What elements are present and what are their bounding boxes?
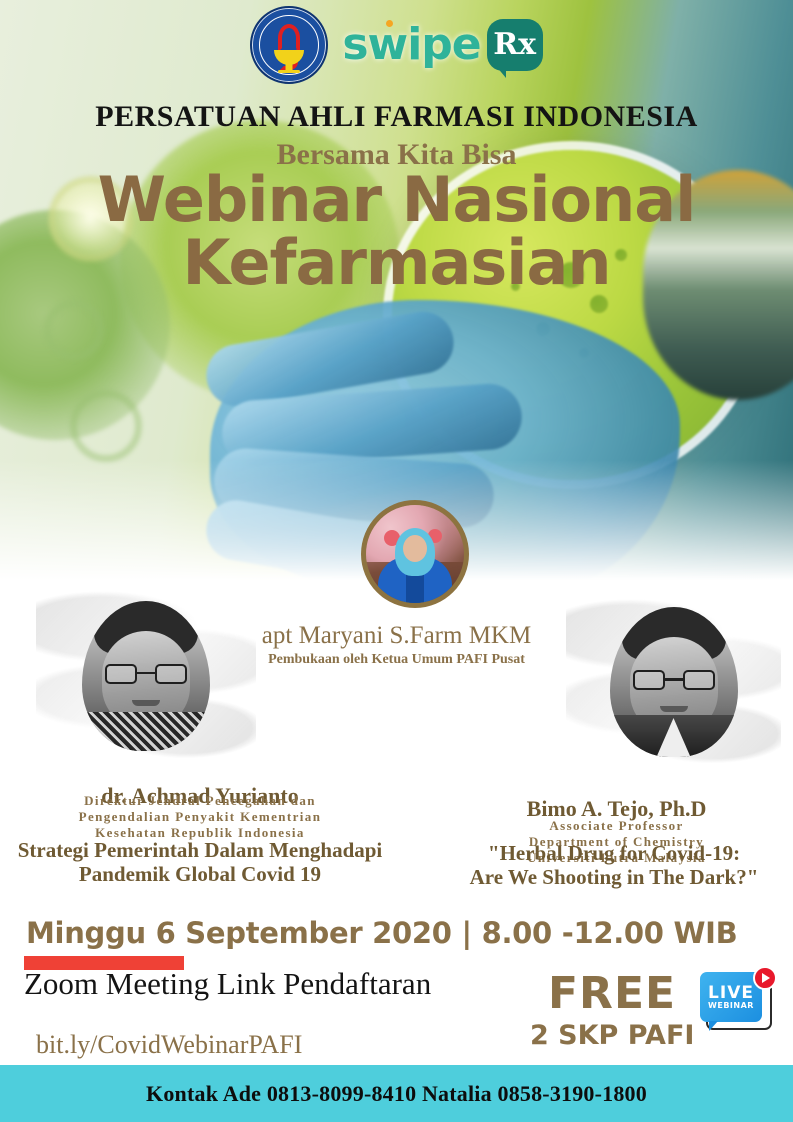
mouth-right [660, 706, 688, 712]
pafi-logo-inner [259, 15, 319, 75]
platform-registration-label: Zoom Meeting Link Pendaftaran [24, 966, 431, 1002]
title-line-2: Kefarmasian [0, 231, 793, 294]
live-badge-line-2: WEBINAR [708, 1002, 754, 1010]
mouth-left [132, 700, 160, 706]
swipe-dot-icon [386, 20, 393, 27]
center-speaker-face [403, 535, 427, 562]
center-speaker-avatar [361, 500, 469, 608]
glasses-icon-right [633, 670, 715, 690]
swiperx-logo: swipe Rx [342, 19, 542, 71]
speaker-photo-left [36, 588, 256, 763]
pafi-logo-icon [250, 6, 328, 84]
title-line-1: Webinar Nasional [98, 163, 696, 236]
rx-bubble-icon: Rx [487, 19, 543, 71]
serpent-icon [278, 24, 300, 52]
price-label: FREE [548, 968, 676, 1019]
center-speaker-name: apt Maryani S.Farm MKM [0, 622, 793, 650]
speaker-topic-left: Strategi Pemerintah Dalam Menghadapi Pan… [0, 839, 400, 887]
contact-footer: Kontak Ade 0813-8099-8410 Natalia 0858-3… [0, 1065, 793, 1122]
center-speaker-photo [366, 505, 464, 603]
organization-name: PERSATUAN AHLI FARMASI INDONESIA [0, 100, 793, 134]
batik-shirt-left [82, 712, 210, 751]
registration-link[interactable]: bit.ly/CovidWebinarPAFI [36, 1030, 302, 1060]
speaker-topic-right: "Herbal Drug for Covid-19: Are We Shooti… [435, 842, 793, 890]
live-badge-line-1: LIVE [708, 985, 754, 1002]
event-datetime: Minggu 6 September 2020 | 8.00 -12.00 WI… [26, 916, 737, 950]
virus-ring-3 [70, 390, 142, 462]
rx-label: Rx [493, 30, 536, 60]
contact-text: Kontak Ade 0813-8099-8410 Natalia 0858-3… [146, 1081, 647, 1107]
speaker-role-left: Direktur Jendral Pencegahan dan Pengenda… [0, 793, 400, 841]
swipe-wordmark: swipe [342, 23, 480, 67]
page-title: Webinar Nasional Kefarmasian [0, 168, 793, 294]
bowl-base-icon [278, 70, 300, 73]
play-button-icon [753, 966, 777, 990]
live-webinar-badge: LIVE WEBINAR [700, 972, 774, 1034]
webinar-poster: swipe Rx PERSATUAN AHLI FARMASI INDONESI… [0, 0, 793, 1122]
logo-row: swipe Rx [0, 6, 793, 84]
credits-label: 2 SKP PAFI [530, 1020, 694, 1051]
center-speaker-subtitle: Pembukaan oleh Ketua Umum PAFI Pusat [0, 652, 793, 668]
virus-ring-2 [44, 300, 104, 360]
